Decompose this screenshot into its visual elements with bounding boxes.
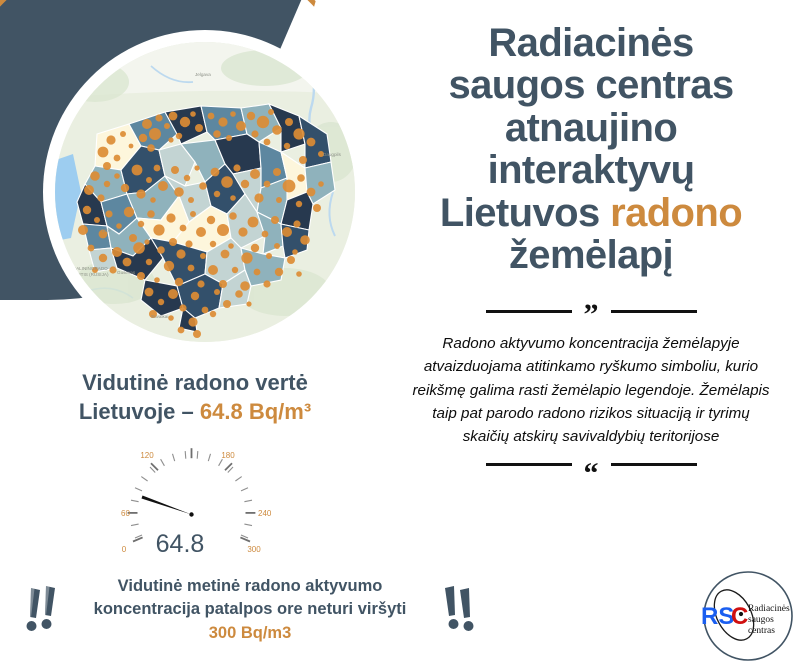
headline-line-4: interaktyvų bbox=[488, 148, 695, 192]
headline-line-1: Radiacinės bbox=[488, 21, 693, 65]
headline-line-6: žemėlapį bbox=[509, 233, 673, 277]
divider-line-left bbox=[486, 463, 572, 466]
average-value-heading: Vidutinė radono vertė Lietuvoje – 64.8 B… bbox=[10, 368, 380, 426]
quote-mark-open-icon: “ bbox=[584, 465, 599, 483]
svg-text:Tilžė: Tilžė bbox=[101, 228, 111, 233]
svg-text:KALININGRADO: KALININGRADO bbox=[73, 266, 108, 271]
svg-text:60: 60 bbox=[121, 509, 130, 518]
bottom-note-limit-value: 300 Bq/m3 bbox=[209, 624, 292, 642]
average-heading-line-1: Vidutinė radono vertė bbox=[82, 370, 308, 395]
average-heading-line-2-prefix: Lietuvoje – bbox=[79, 399, 200, 424]
svg-text:Daugpils: Daugpils bbox=[323, 152, 342, 157]
gauge-major-ticks bbox=[128, 448, 256, 541]
svg-text:0: 0 bbox=[122, 545, 127, 554]
map-circle-clip: Jelgava Daugpils Tilžė KALININGRADO SRIT… bbox=[55, 42, 355, 342]
logo-name-line-3: centras bbox=[748, 626, 775, 636]
svg-text:300: 300 bbox=[247, 545, 261, 554]
map-graphic: Jelgava Daugpils Tilžė KALININGRADO SRIT… bbox=[55, 42, 355, 342]
radon-map[interactable]: Jelgava Daugpils Tilžė KALININGRADO SRIT… bbox=[55, 42, 355, 342]
headline-line-3: atnaujino bbox=[505, 106, 677, 150]
bottom-note-line-1: Vidutinė metinė radono aktyvumo bbox=[118, 577, 383, 595]
svg-text:Gusevas: Gusevas bbox=[117, 270, 136, 275]
rsc-logo[interactable]: RS C Radiacinės saugos centras bbox=[686, 566, 796, 664]
headline-accent-radono: radono bbox=[610, 191, 742, 235]
bottom-note: Vidutinė metinė radono aktyvumo koncentr… bbox=[0, 560, 500, 660]
headline-line-2: saugos centras bbox=[448, 63, 733, 107]
logo-monogram-c: C bbox=[731, 603, 748, 630]
logo-name-line-2: saugos bbox=[748, 615, 774, 625]
divider-line-right bbox=[611, 310, 697, 313]
svg-text:180: 180 bbox=[221, 451, 235, 460]
infographic-poster: Jelgava Daugpils Tilžė KALININGRADO SRIT… bbox=[0, 0, 800, 667]
radon-gauge-chart: 0 60 120 180 240 300 64.8 bbox=[120, 432, 280, 557]
gauge-value-label: 64.8 bbox=[156, 530, 205, 557]
double-exclamation-icon bbox=[19, 582, 71, 638]
headline-line-5-prefix: Lietuvos bbox=[440, 191, 610, 235]
logo-name-line-1: Radiacinės bbox=[748, 604, 790, 614]
logo-nucleus-dot bbox=[739, 612, 743, 616]
gauge-needle bbox=[142, 496, 194, 517]
quote-mark-close-icon: ” bbox=[584, 306, 599, 324]
svg-text:240: 240 bbox=[258, 509, 272, 518]
quote-divider-top: ” bbox=[382, 302, 800, 320]
double-exclamation-icon bbox=[429, 582, 481, 638]
rsc-logo-graphic: RS C Radiacinės saugos centras bbox=[686, 566, 796, 664]
divider-line-left bbox=[486, 310, 572, 313]
quote-divider-bottom: “ bbox=[382, 456, 800, 474]
bottom-note-text: Vidutinė metinė radono aktyvumo koncentr… bbox=[85, 575, 415, 645]
svg-text:Suvalkai: Suvalkai bbox=[151, 314, 168, 319]
page-title: Radiacinės saugos centras atnaujino inte… bbox=[382, 0, 800, 276]
gauge-graphic: 0 60 120 180 240 300 64.8 bbox=[120, 432, 280, 557]
svg-text:120: 120 bbox=[140, 451, 154, 460]
divider-line-right bbox=[611, 463, 697, 466]
logo-monogram-rs: RS bbox=[701, 603, 734, 630]
gauge-minor-ticks bbox=[130, 451, 254, 538]
quote-text: Radono aktyvumo koncentracija žemėlapyje… bbox=[407, 332, 775, 447]
svg-text:Jelgava: Jelgava bbox=[195, 72, 211, 77]
average-value: 64.8 Bq/m³ bbox=[200, 399, 311, 424]
bottom-note-line-2: koncentracija patalpos ore neturi viršyt… bbox=[94, 600, 407, 618]
